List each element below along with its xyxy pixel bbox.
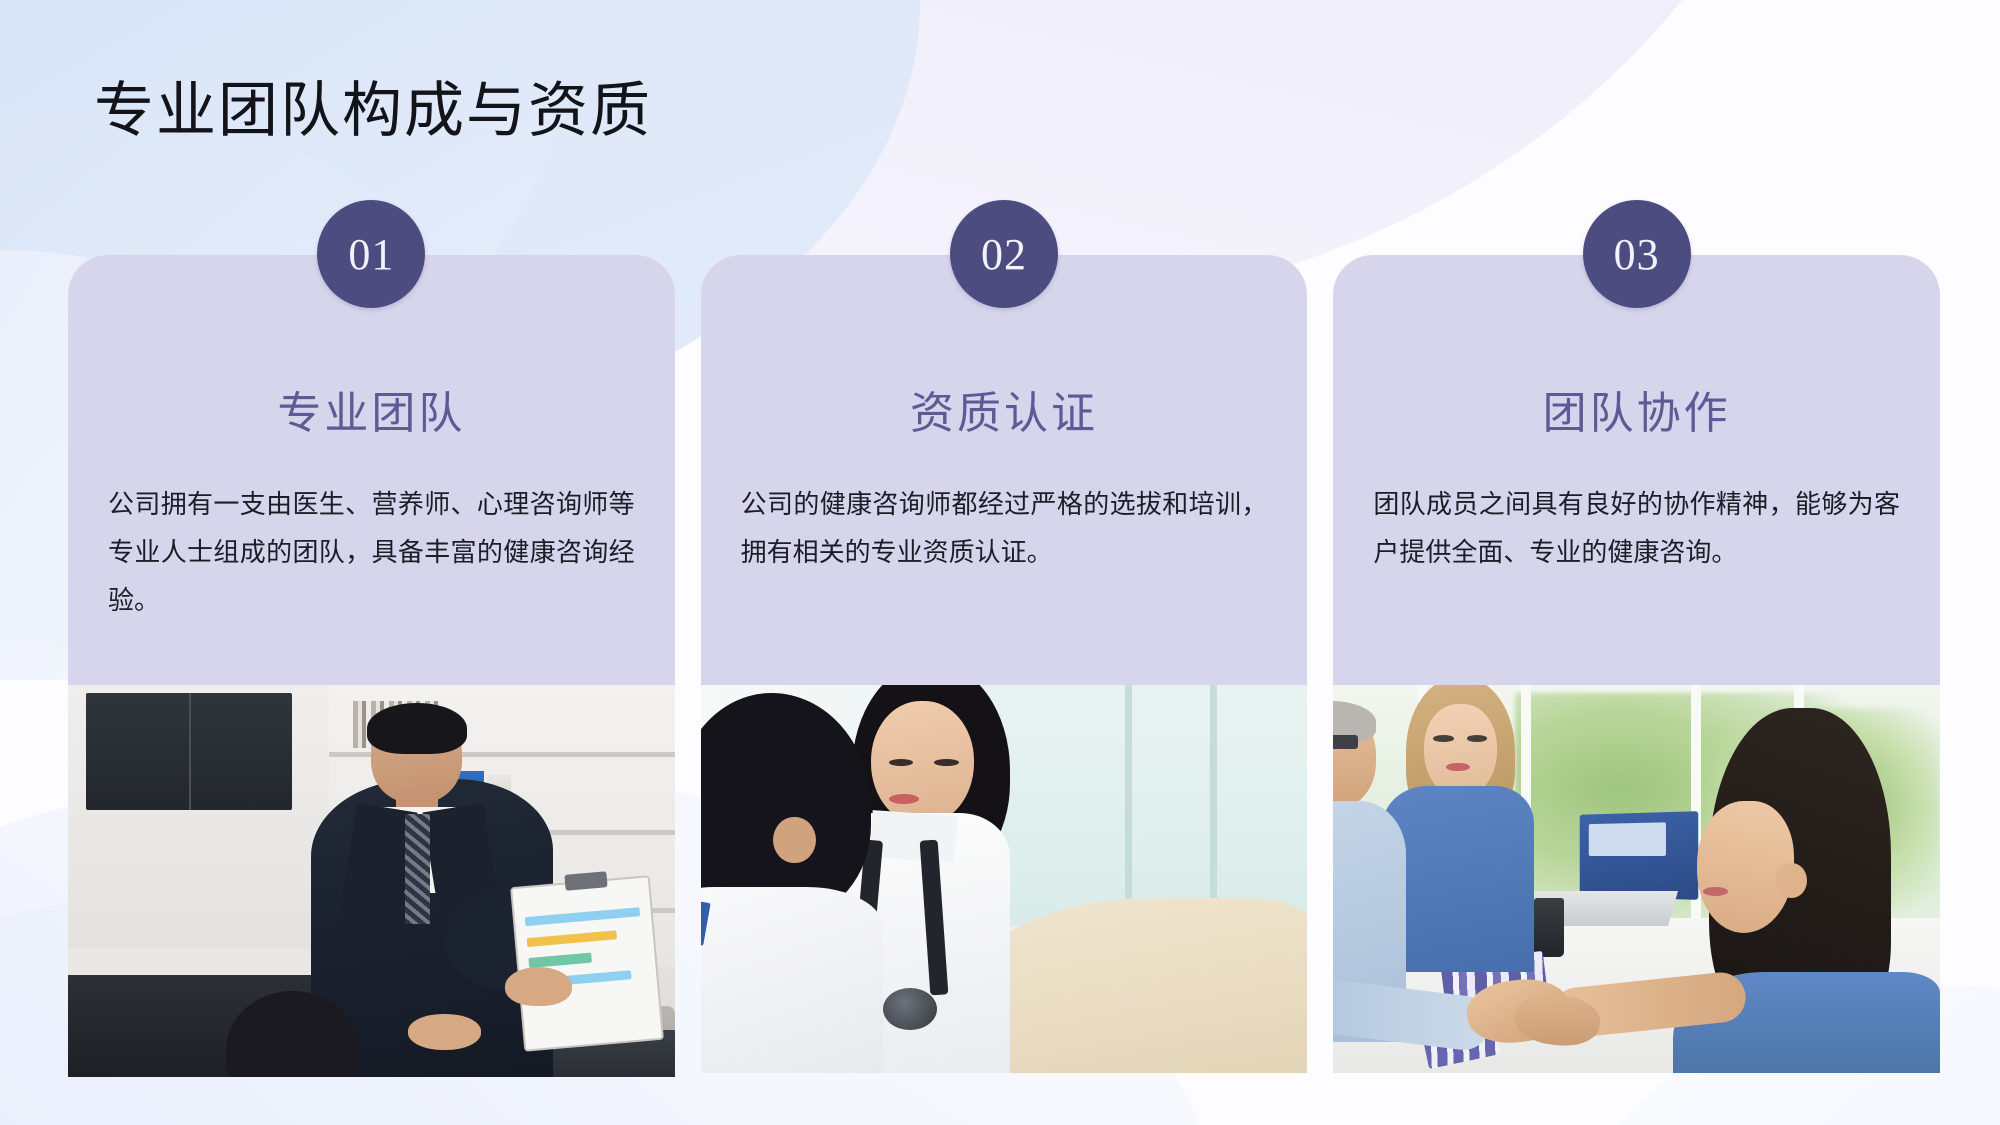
card-number-badge-2: 02 xyxy=(950,200,1058,308)
card-number-label-1: 01 xyxy=(348,229,394,280)
page-title: 专业团队构成与资质 xyxy=(94,78,652,145)
card-panel-3: 03 团队协作 团队成员之间具有良好的协作精神，能够为客户提供全面、专业的健康咨… xyxy=(1333,255,1940,685)
photo-two-doctors-reviewing xyxy=(701,685,1308,1073)
card-number-label-2: 02 xyxy=(981,229,1027,280)
feature-card-2[interactable]: 02 资质认证 公司的健康咨询师都经过严格的选拔和培训，拥有相关的专业资质认证。 xyxy=(701,255,1308,1077)
card-number-badge-3: 03 xyxy=(1583,200,1691,308)
card-photo-1 xyxy=(68,685,675,1077)
card-heading-3: 团队协作 xyxy=(1543,377,1731,441)
card-heading-2: 资质认证 xyxy=(910,377,1098,441)
photo-consultant-presenting-report xyxy=(68,685,675,1077)
card-body-1: 公司拥有一支由医生、营养师、心理咨询师等专业人士组成的团队，具备丰富的健康咨询经… xyxy=(104,481,639,625)
feature-card-1[interactable]: 01 专业团队 公司拥有一支由医生、营养师、心理咨询师等专业人士组成的团队，具备… xyxy=(68,255,675,1077)
feature-card-3[interactable]: 03 团队协作 团队成员之间具有良好的协作精神，能够为客户提供全面、专业的健康咨… xyxy=(1333,255,1940,1077)
card-photo-3 xyxy=(1333,685,1940,1073)
card-body-3: 团队成员之间具有良好的协作精神，能够为客户提供全面、专业的健康咨询。 xyxy=(1369,481,1904,577)
card-photo-2 xyxy=(701,685,1308,1073)
photo-team-meeting-handshake xyxy=(1333,685,1940,1073)
slide-root: 专业团队构成与资质 01 专业团队 公司拥有一支由医生、营养师、心理咨询师等专业… xyxy=(0,0,2000,1125)
card-number-badge-1: 01 xyxy=(317,200,425,308)
card-panel-2: 02 资质认证 公司的健康咨询师都经过严格的选拔和培训，拥有相关的专业资质认证。 xyxy=(701,255,1308,685)
cards-row: 01 专业团队 公司拥有一支由医生、营养师、心理咨询师等专业人士组成的团队，具备… xyxy=(68,255,1940,1077)
card-heading-1: 专业团队 xyxy=(277,377,465,441)
card-panel-1: 01 专业团队 公司拥有一支由医生、营养师、心理咨询师等专业人士组成的团队，具备… xyxy=(68,255,675,685)
card-body-2: 公司的健康咨询师都经过严格的选拔和培训，拥有相关的专业资质认证。 xyxy=(737,481,1272,577)
card-number-label-3: 03 xyxy=(1614,229,1660,280)
